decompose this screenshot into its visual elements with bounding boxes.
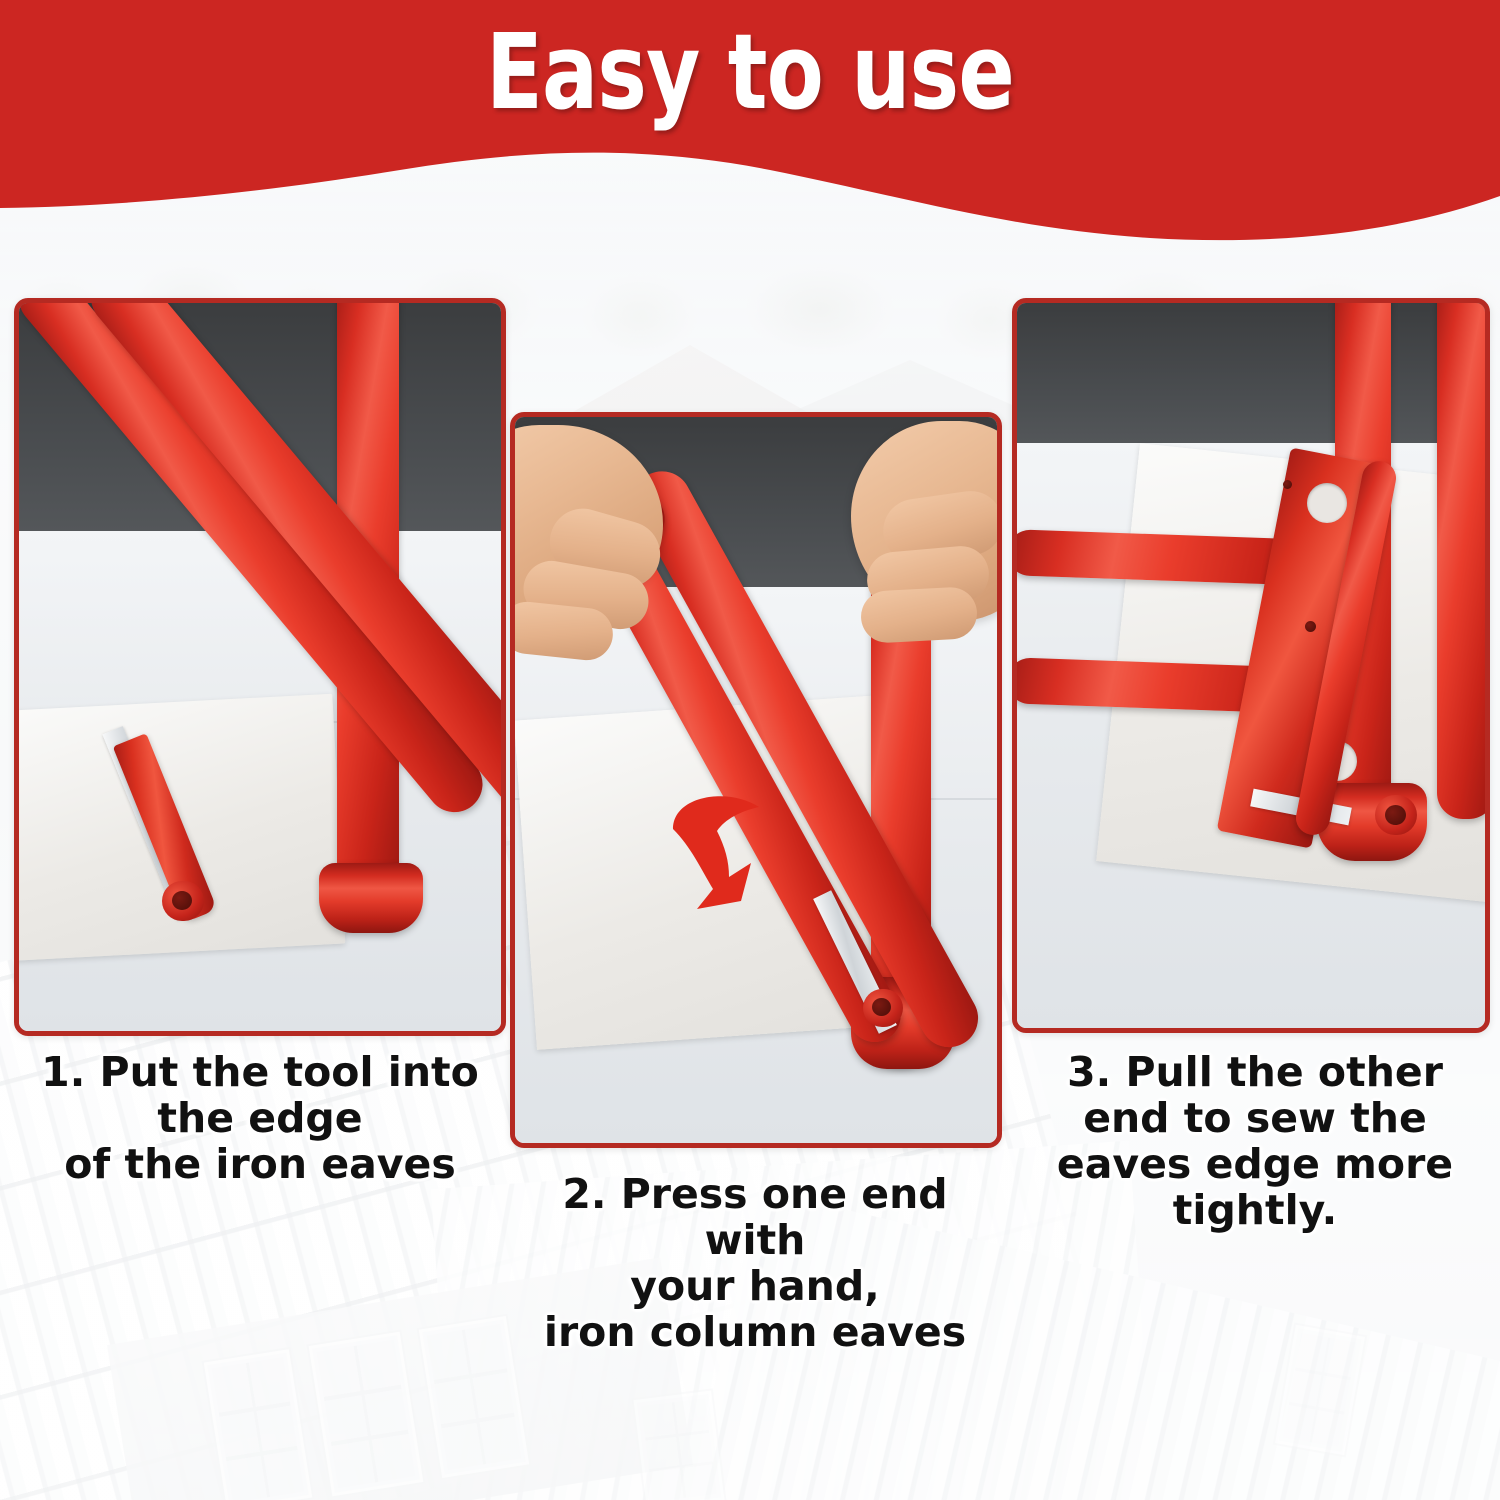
tool-plate-screw-mid xyxy=(1305,621,1316,632)
step-2-caption: 2. Press one end with your hand, iron co… xyxy=(505,1172,1005,1356)
tool-plate-screw-top xyxy=(1283,480,1292,489)
step-3-photo xyxy=(1012,298,1490,1033)
curved-arrow-icon xyxy=(655,785,805,920)
page-title: Easy to use xyxy=(150,20,1350,124)
step-3-caption-line: 3. Pull the other xyxy=(1010,1050,1500,1096)
photo-backdrop xyxy=(1017,303,1485,453)
tool-pivot-screw xyxy=(1385,805,1406,825)
step-2-photo xyxy=(510,412,1002,1148)
step-1-photo xyxy=(14,298,506,1036)
step-1-caption-line: of the iron eaves xyxy=(0,1142,520,1188)
tool-pivot-screw xyxy=(172,891,192,910)
step-1-caption-line: 1. Put the tool into the edge xyxy=(0,1050,520,1142)
step-2-caption-line: your hand, xyxy=(505,1264,1005,1310)
step-2-scene xyxy=(515,417,997,1143)
tool-base-foot xyxy=(319,863,423,933)
step-1-scene xyxy=(19,303,501,1031)
step-1-caption: 1. Put the tool into the edge of the iro… xyxy=(0,1050,520,1188)
header-banner: Easy to use xyxy=(0,0,1500,250)
step-3-caption-line: end to sew the xyxy=(1010,1096,1500,1142)
infographic-canvas: Easy to use xyxy=(0,0,1500,1500)
step-2-caption-line: 2. Press one end with xyxy=(505,1172,1005,1264)
step-3-caption: 3. Pull the other end to sew the eaves e… xyxy=(1010,1050,1500,1234)
tool-plate-hole-top xyxy=(1307,483,1347,523)
tool-pivot-screw xyxy=(872,998,891,1016)
step-2-caption-line: iron column eaves xyxy=(505,1310,1005,1356)
step-3-scene xyxy=(1017,303,1485,1028)
step-3-caption-line: eaves edge more tightly. xyxy=(1010,1142,1500,1234)
right-hand-finger xyxy=(860,586,979,644)
tool-vertical-tube-right xyxy=(1437,298,1490,819)
